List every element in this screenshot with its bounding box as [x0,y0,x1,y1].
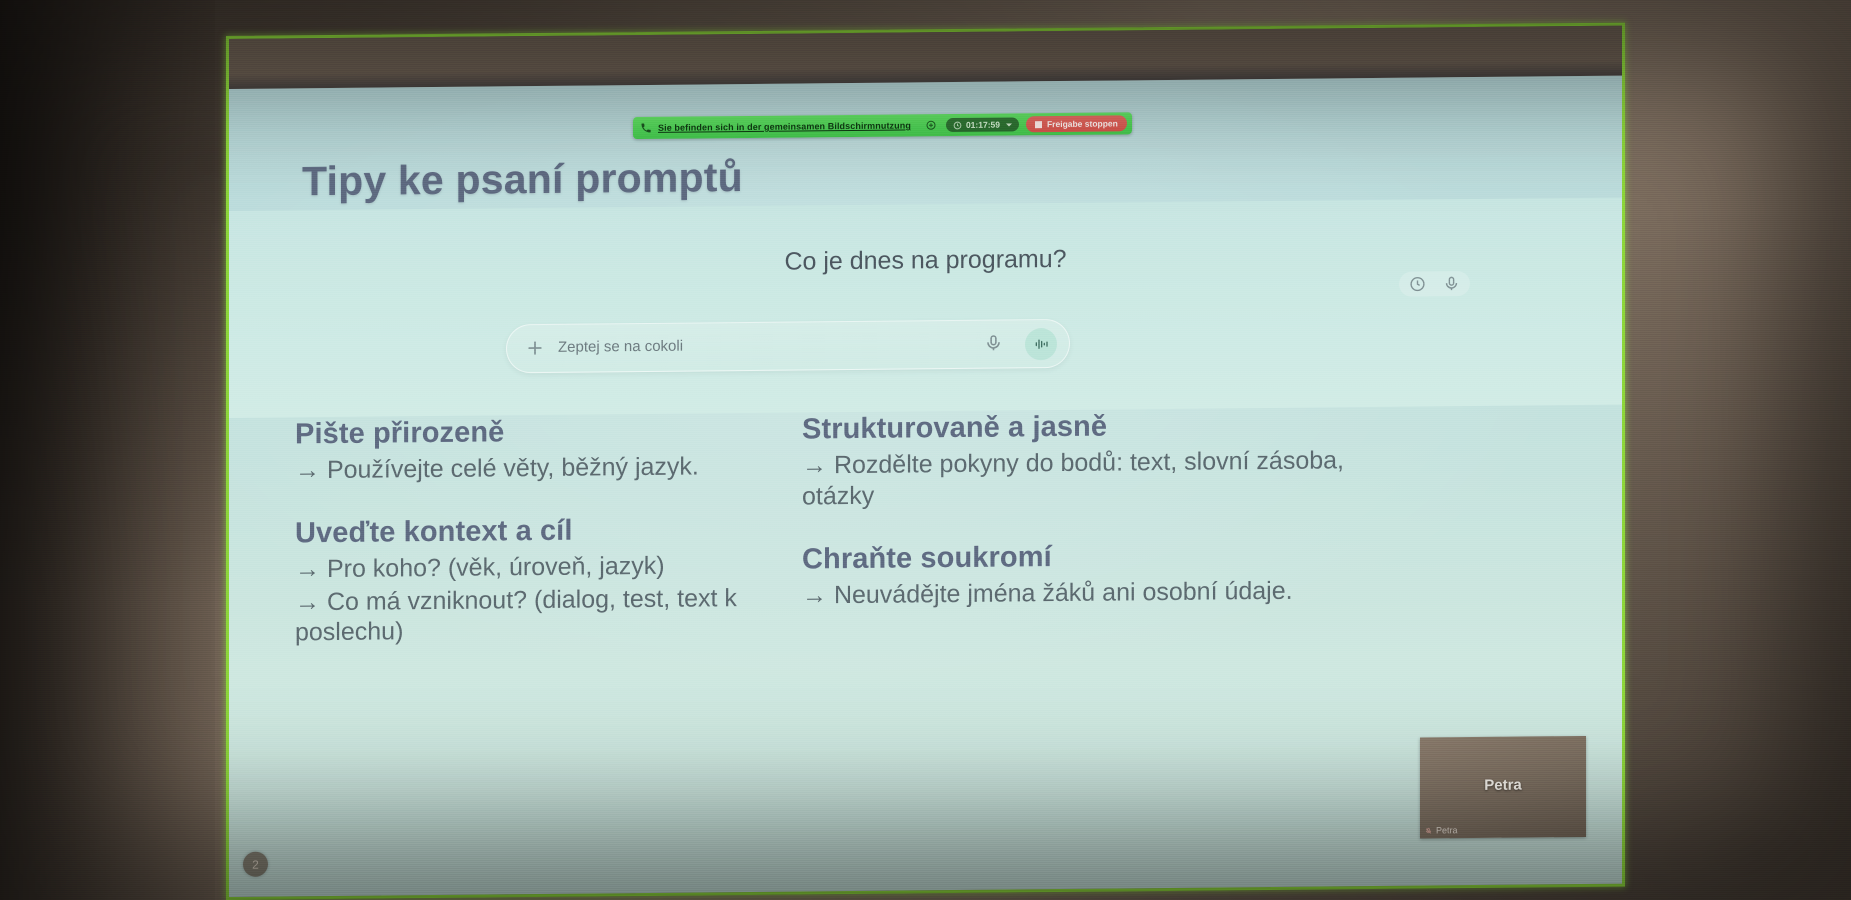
stop-share-label: Freigabe stoppen [1047,118,1118,129]
tips-column-left: Pište přirozeně → Používejte celé věty, … [295,413,805,679]
page-title: Tipy ke psaní promptů [302,154,743,205]
plus-icon[interactable] [525,338,545,358]
microphone-icon[interactable] [984,334,1003,353]
voice-mode-icon [1033,336,1049,352]
embedded-app-screenshot: Co je dnes na programu? Zeptej se na cok… [229,198,1622,418]
search-input[interactable]: Zeptej se na cokoli [558,338,683,356]
history-icon[interactable] [1409,275,1426,292]
shared-screen-frame: Tipy ke psaní promptů Co je dnes na prog… [226,23,1625,900]
participant-video-tile[interactable]: Petra Petra [1420,736,1586,839]
tip-block: Pište přirozeně → Používejte celé věty, … [295,413,805,486]
share-status-text: Sie befinden sich in der gemeinsamen Bil… [658,120,911,132]
participant-footer-name: Petra [1436,825,1458,835]
tip-block: Chraňte soukromí → Neuvádějte jména žáků… [802,538,1362,611]
chevron-down-icon[interactable] [1006,123,1012,126]
tip-heading: Chraňte soukromí [802,538,1362,576]
stop-square-icon [1035,121,1042,128]
room-photo: Tipy ke psaní promptů Co je dnes na prog… [0,0,1851,900]
app-top-icon-group [1399,271,1470,297]
tip-heading: Pište přirozeně [295,413,805,451]
tip-heading: Uveďte kontext a cíl [295,512,805,550]
annotate-icon[interactable] [925,119,937,131]
tip-heading: Strukturovaně a jasně [802,408,1362,446]
tip-block: Strukturovaně a jasně → Rozdělte pokyny … [802,408,1362,512]
tip-line: → Neuvádějte jména žáků ani osobní údaje… [802,575,1362,611]
tip-line: → Rozdělte pokyny do bodů: text, slovní … [802,445,1362,512]
presentation-slide: Tipy ke psaní promptů Co je dnes na prog… [229,76,1622,897]
prompt-composer[interactable]: Zeptej se na cokoli [506,319,1070,373]
participant-footer: Petra [1425,825,1458,835]
phone-icon[interactable] [640,122,652,134]
slide-page-badge[interactable]: 2 [243,852,268,877]
tip-line: → Co má vzniknout? (dialog, test, text k… [295,582,805,648]
voice-mode-button[interactable] [1025,328,1057,360]
tip-line: → Pro koho? (věk, úroveň, jazyk) [295,549,805,585]
participant-name: Petra [1420,776,1586,795]
tip-block: Uveďte kontext a cíl → Pro koho? (věk, ú… [295,512,805,648]
tips-column-right: Strukturovaně a jasně → Rozdělte pokyny … [802,408,1362,642]
stop-share-button[interactable]: Freigabe stoppen [1026,115,1127,132]
clock-icon [953,120,962,129]
share-timer[interactable]: 01:17:59 [946,117,1019,132]
share-timer-value: 01:17:59 [966,120,1000,130]
microphone-muted-icon [1425,826,1432,835]
microphone-icon[interactable] [1443,275,1460,292]
tip-line: → Používejte celé věty, běžný jazyk. [295,450,805,486]
